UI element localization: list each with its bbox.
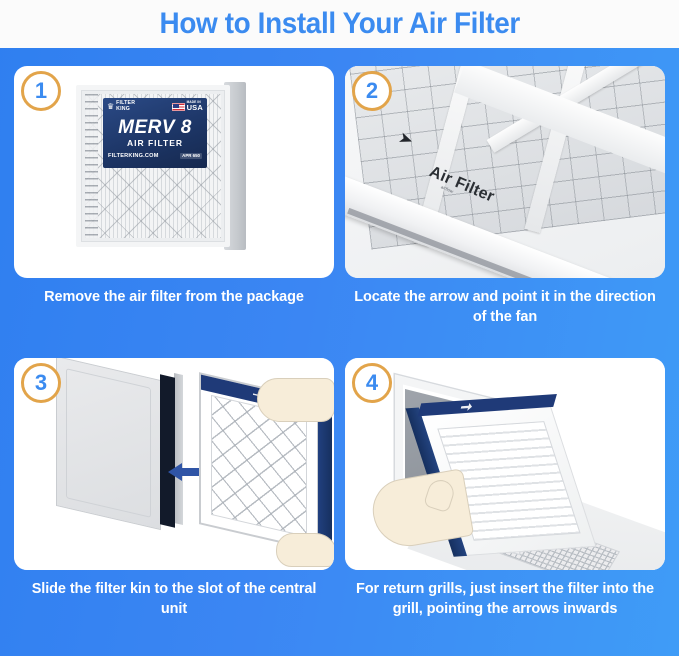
step-2: 2	[345, 66, 665, 354]
step-4-badge: 4	[352, 363, 392, 403]
step-2-number: 2	[366, 80, 378, 102]
step-3-number: 3	[35, 372, 47, 394]
step-3: 3	[14, 358, 334, 646]
filter-pleat-edge	[85, 94, 98, 238]
label-bottom-row: FILTERKING.COM APR 650	[103, 148, 207, 159]
label-subtitle: AIR FILTER	[103, 139, 207, 148]
step-2-badge: 2	[352, 71, 392, 111]
filter-king-logo: ♛ FILTER KING	[107, 101, 135, 112]
step-1-caption: Remove the air filter from the package	[20, 288, 327, 308]
step-1: 1 ♛	[14, 66, 334, 354]
central-unit-side-light	[174, 373, 183, 525]
step-2-illustration: Air Filter airflow	[345, 66, 665, 278]
step-4-illustration	[345, 358, 665, 570]
step-3-card: 3	[14, 358, 334, 570]
apr-rating: APR 650	[180, 153, 202, 159]
brand-name: FILTER KING	[116, 101, 135, 112]
brand-website: FILTERKING.COM	[108, 153, 159, 159]
step-3-caption: Slide the filter kin to the slot of the …	[20, 580, 327, 619]
hand-upper-icon	[257, 378, 334, 422]
hand-shape	[276, 533, 334, 567]
central-unit-face	[56, 358, 161, 530]
hand-shape	[257, 378, 334, 422]
hand-lower-icon	[276, 533, 334, 567]
return-grill-scene	[345, 358, 665, 570]
step-4-caption: For return grills, just insert the filte…	[351, 580, 658, 619]
infographic-root: How to Install Your Air Filter 1	[0, 0, 679, 656]
step-4: 4	[345, 358, 665, 646]
step-2-card: 2	[345, 66, 665, 278]
made-in-usa-badge: MADE IN USA	[172, 101, 203, 112]
country-label: USA	[187, 104, 203, 112]
step-1-card: 1 ♛	[14, 66, 334, 278]
step-4-number: 4	[366, 372, 378, 394]
step-2-caption: Locate the arrow and point it in the dir…	[351, 288, 658, 327]
step-1-number: 1	[35, 80, 47, 102]
steps-grid: 1 ♛	[0, 48, 679, 656]
header-band: How to Install Your Air Filter	[0, 0, 679, 48]
filter-corner-photo: Air Filter airflow	[345, 66, 665, 278]
step-3-badge: 3	[21, 363, 61, 403]
slide-into-unit-scene	[14, 358, 334, 570]
brand-line-2: KING	[116, 106, 130, 112]
step-3-illustration	[14, 358, 334, 570]
filter-product-label: ♛ FILTER KING	[103, 98, 207, 168]
hand-icon	[373, 476, 469, 544]
merv-rating: MERV 8	[103, 118, 207, 137]
air-filter-product-icon: ♛ FILTER KING	[76, 82, 246, 250]
step-1-badge: 1	[21, 71, 61, 111]
page-title: How to Install Your Air Filter	[159, 7, 519, 41]
filter-corner-body: Air Filter airflow	[345, 66, 665, 278]
filter-front-face: ♛ FILTER KING	[76, 85, 230, 247]
made-in-usa-text: MADE IN USA	[187, 101, 203, 112]
hand-shape	[368, 468, 474, 552]
central-unit-slot	[160, 374, 175, 527]
label-top-row: ♛ FILTER KING	[103, 98, 207, 112]
crown-icon: ♛	[107, 103, 114, 111]
usa-flag-icon	[172, 103, 185, 111]
step-4-card: 4	[345, 358, 665, 570]
step-1-illustration: ♛ FILTER KING	[14, 66, 334, 278]
